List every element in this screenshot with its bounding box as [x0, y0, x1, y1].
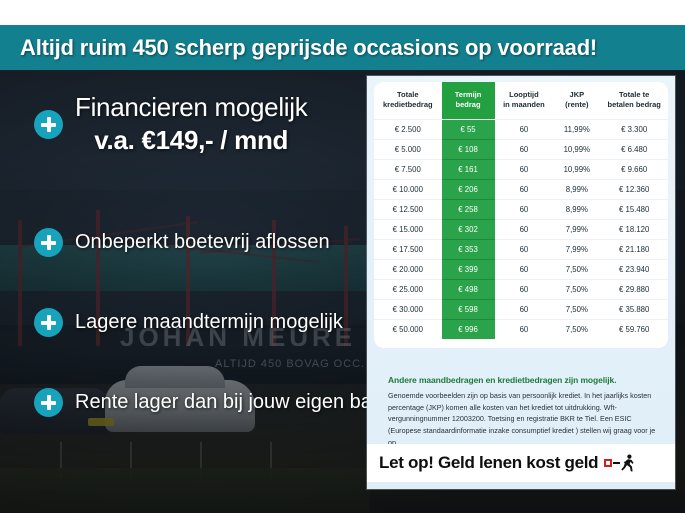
column-header-totale-te-betalen: Totale tebetalen bedrag: [600, 82, 668, 120]
plus-icon: [34, 228, 63, 257]
table-header-row: Totalekredietbedrag Termijnbedrag Loopti…: [374, 82, 668, 120]
benefit-financing-text: Financieren mogelijk v.a. €149,- / mnd: [75, 92, 307, 156]
table-cell: € 59.760: [600, 320, 668, 340]
table-cell: € 9.660: [600, 160, 668, 180]
plus-icon: [34, 388, 63, 417]
header-line-c: Looptijdin maanden: [497, 90, 552, 110]
warning-text: Let op! Geld lenen kost geld: [379, 453, 598, 473]
table-cell: 60: [495, 240, 554, 260]
benefits-list: Financieren mogelijk v.a. €149,- / mnd O…: [0, 70, 370, 513]
table-cell: € 598: [442, 300, 495, 320]
table-cell: 7,50%: [553, 280, 600, 300]
table-cell: € 3.300: [600, 120, 668, 140]
plus-icon: [34, 308, 63, 337]
table-cell: 60: [495, 280, 554, 300]
notice-body: Genoemde voorbeelden zijn op basis van p…: [388, 390, 660, 448]
running-man-glyph: [621, 454, 635, 472]
table-cell: € 5.000: [374, 140, 442, 160]
table-cell: € 6.480: [600, 140, 668, 160]
rates-table-body: € 2.500€ 556011,99%€ 3.300€ 5.000€ 10860…: [374, 120, 668, 340]
warning-bar: Let op! Geld lenen kost geld: [367, 444, 675, 482]
column-header-termijn-bedrag: Termijnbedrag: [442, 82, 495, 120]
table-cell: € 50.000: [374, 320, 442, 340]
table-cell: € 18.120: [600, 220, 668, 240]
table-cell: 10,99%: [553, 160, 600, 180]
benefit-line-1: Financieren mogelijk: [75, 92, 307, 123]
table-cell: 7,50%: [553, 320, 600, 340]
table-cell: 60: [495, 120, 554, 140]
table-cell: 60: [495, 320, 554, 340]
table-row: € 7.500€ 1616010,99%€ 9.660: [374, 160, 668, 180]
table-row: € 30.000€ 598607,50%€ 35.880: [374, 300, 668, 320]
table-cell: € 17.500: [374, 240, 442, 260]
table-cell: 8,99%: [553, 180, 600, 200]
rates-table-card: Totalekredietbedrag Termijnbedrag Loopti…: [374, 82, 668, 348]
table-cell: € 258: [442, 200, 495, 220]
table-cell: € 25.000: [374, 280, 442, 300]
table-row: € 25.000€ 498607,50%€ 29.880: [374, 280, 668, 300]
table-cell: € 29.880: [600, 280, 668, 300]
table-cell: € 20.000: [374, 260, 442, 280]
benefit-label: Lagere maandtermijn mogelijk: [75, 311, 343, 334]
headline-banner: Altijd ruim 450 scherp geprijsde occasio…: [0, 25, 685, 70]
table-row: € 15.000€ 302607,99%€ 18.120: [374, 220, 668, 240]
table-row: € 17.500€ 353607,99%€ 21.180: [374, 240, 668, 260]
rates-table: Totalekredietbedrag Termijnbedrag Loopti…: [374, 82, 668, 339]
benefit-label: Rente lager dan bij jouw eigen bank: [75, 391, 393, 414]
table-cell: € 108: [442, 140, 495, 160]
headline-text: Altijd ruim 450 scherp geprijsde occasio…: [20, 35, 597, 61]
table-cell: 10,99%: [553, 140, 600, 160]
table-cell: € 206: [442, 180, 495, 200]
table-cell: € 302: [442, 220, 495, 240]
table-cell: € 2.500: [374, 120, 442, 140]
table-cell: 60: [495, 200, 554, 220]
advertisement-image: Altijd ruim 450 scherp geprijsde occasio…: [0, 0, 685, 513]
plus-icon: [34, 110, 63, 139]
table-cell: 60: [495, 300, 554, 320]
table-cell: 7,99%: [553, 240, 600, 260]
table-cell: € 498: [442, 280, 495, 300]
table-cell: € 10.000: [374, 180, 442, 200]
table-cell: € 21.180: [600, 240, 668, 260]
table-cell: € 353: [442, 240, 495, 260]
table-cell: € 161: [442, 160, 495, 180]
table-cell: 7,50%: [553, 300, 600, 320]
list-item: Lagere maandtermijn mogelijk: [34, 308, 343, 337]
table-cell: 7,50%: [553, 260, 600, 280]
header-line-e: Totale tebetalen bedrag: [602, 90, 666, 110]
table-row: € 20.000€ 399607,50%€ 23.940: [374, 260, 668, 280]
table-cell: € 23.940: [600, 260, 668, 280]
header-line-d: JKP(rente): [555, 90, 598, 110]
table-cell: 8,99%: [553, 200, 600, 220]
running-man-icon: [604, 454, 635, 472]
table-cell: 60: [495, 140, 554, 160]
table-row: € 5.000€ 1086010,99%€ 6.480: [374, 140, 668, 160]
benefit-line-2: v.a. €149,- / mnd: [75, 125, 307, 156]
table-cell: € 399: [442, 260, 495, 280]
list-item: Rente lager dan bij jouw eigen bank: [34, 388, 393, 417]
column-header-totale-kredietbedrag: Totalekredietbedrag: [374, 82, 442, 120]
table-row: € 12.500€ 258608,99%€ 15.480: [374, 200, 668, 220]
table-row: € 2.500€ 556011,99%€ 3.300: [374, 120, 668, 140]
table-cell: 60: [495, 160, 554, 180]
table-cell: 60: [495, 180, 554, 200]
warning-rope: [613, 462, 620, 464]
column-header-looptijd: Looptijdin maanden: [495, 82, 554, 120]
table-cell: € 15.480: [600, 200, 668, 220]
benefit-label: Onbeperkt boetevrij aflossen: [75, 231, 330, 254]
table-cell: € 55: [442, 120, 495, 140]
header-line-b: Termijnbedrag: [444, 90, 493, 110]
table-cell: € 35.880: [600, 300, 668, 320]
table-cell: 60: [495, 260, 554, 280]
table-cell: € 12.360: [600, 180, 668, 200]
table-cell: 60: [495, 220, 554, 240]
table-cell: € 12.500: [374, 200, 442, 220]
notice-title: Andere maandbedragen en kredietbedragen …: [388, 375, 658, 385]
table-cell: 7,99%: [553, 220, 600, 240]
header-line-a: Totalekredietbedrag: [376, 90, 440, 110]
table-cell: € 15.000: [374, 220, 442, 240]
warning-red-box: [604, 459, 612, 467]
table-cell: € 996: [442, 320, 495, 340]
list-item: Financieren mogelijk v.a. €149,- / mnd: [34, 92, 307, 156]
table-cell: 11,99%: [553, 120, 600, 140]
list-item: Onbeperkt boetevrij aflossen: [34, 228, 330, 257]
table-cell: € 30.000: [374, 300, 442, 320]
table-row: € 10.000€ 206608,99%€ 12.360: [374, 180, 668, 200]
table-cell: € 7.500: [374, 160, 442, 180]
column-header-jkp: JKP(rente): [553, 82, 600, 120]
table-row: € 50.000€ 996607,50%€ 59.760: [374, 320, 668, 340]
